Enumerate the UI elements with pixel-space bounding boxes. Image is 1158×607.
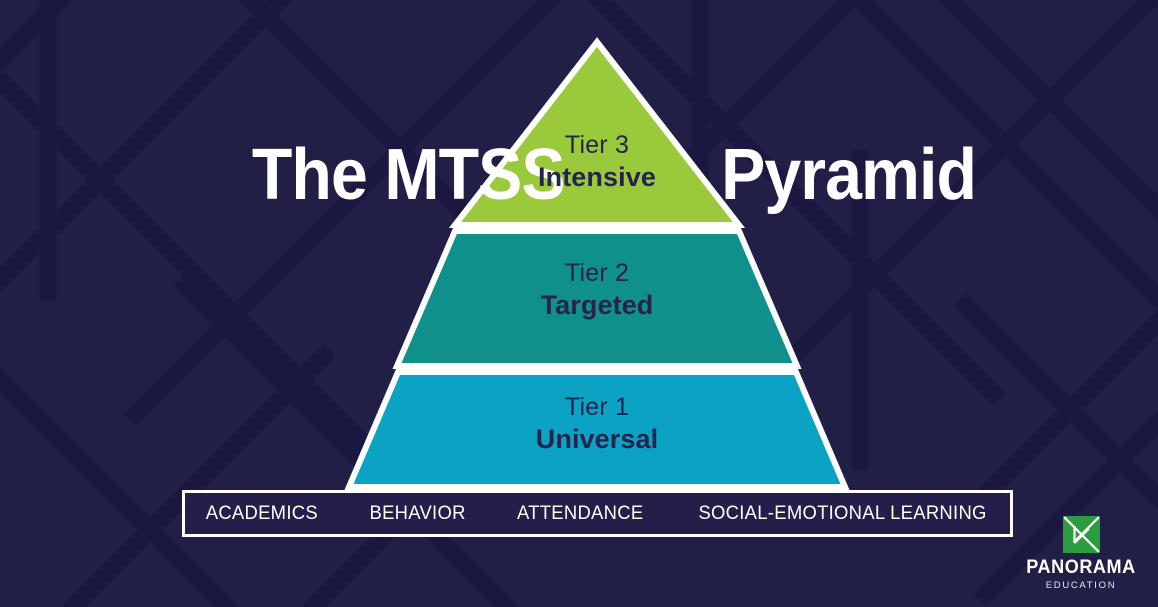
domain-item-behavior[interactable]: BEHAVIOR — [346, 503, 489, 525]
mtss-pyramid-infographic: The MTSSPyramid Tier 3 Intensive Tier 2 … — [0, 0, 1158, 607]
logo-subtext: EDUCATION — [1022, 580, 1140, 592]
pyramid-tier-1-shape[interactable] — [349, 372, 845, 487]
panorama-education-logo[interactable]: PANORAMA EDUCATION — [1022, 516, 1140, 592]
domain-item-academics[interactable]: ACADEMICS — [183, 503, 342, 525]
domain-item-social-emotional-learning[interactable]: SOCIAL-EMOTIONAL LEARNING — [675, 503, 1010, 525]
panorama-logo-mark-icon — [1063, 516, 1100, 553]
logo-wordmark: PANORAMA — [1025, 558, 1137, 578]
domain-bar: ACADEMICS BEHAVIOR ATTENDANCE SOCIAL-EMO… — [182, 490, 1013, 537]
page-title: The MTSSPyramid — [46, 46, 1111, 304]
page-title-part-1: The MTSS — [252, 135, 565, 215]
domain-item-attendance[interactable]: ATTENDANCE — [494, 503, 667, 525]
page-title-part-2: Pyramid — [721, 135, 976, 215]
